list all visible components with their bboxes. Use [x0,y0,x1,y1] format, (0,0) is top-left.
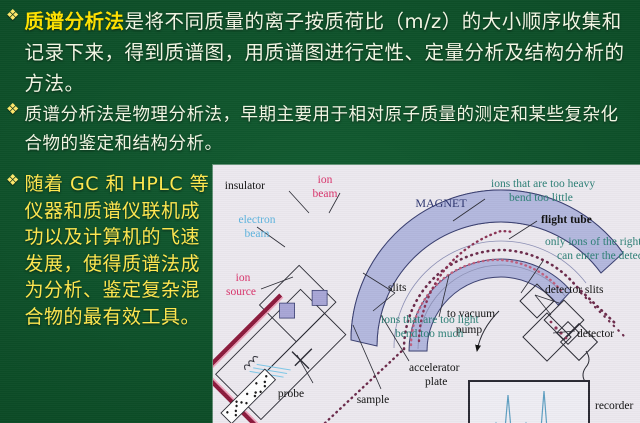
bullet-item-3: ❖ 随着 GC 和 HPLC 等仪器和质谱仪联机成功以及计算机的飞速发展，使得质… [6,171,211,330]
bullet-marker-icon: ❖ [6,9,19,24]
label-accelerator-1: accelerator [409,362,460,374]
label-electron-beam-2: beam [245,228,270,240]
label-flight-tube: flight tube [541,214,592,226]
label-ion-source-2: source [226,286,256,298]
label-detector-slits: detector slits [545,284,604,296]
label-detector: detector [577,328,614,340]
label-right-mass-2: can enter the detector [557,250,640,262]
label-ion-beam-2: beam [313,188,338,200]
recorder-box [469,381,589,423]
label-probe: probe [278,388,304,400]
bullet-1-highlight: 质谱分析法 [24,10,124,33]
bullet-marker-icon: ❖ [6,174,19,189]
bullet-text-3: 随着 GC 和 HPLC 等仪器和质谱仪联机成功以及计算机的飞速发展，使得质谱法… [24,171,211,330]
label-too-light-1: ions that are too light [381,314,480,326]
label-too-heavy-1: ions that are too heavy [491,178,595,190]
mass-spectrometer-figure: insulator slits accelerator plate probe … [213,165,640,423]
bullet-marker-icon: ❖ [6,103,19,118]
figure-labels-magnet: MAGNET [415,196,467,210]
presentation-slide: ❖ 质谱分析法是将不同质量的离子按质荷比（m/z）的大小顺序收集和记录下来，得到… [0,0,640,423]
bullet-text-2: 质谱分析法是物理分析法，早期主要用于相对原子质量的测定和某些复杂化合物的鉴定和结… [24,101,636,159]
bullet-item-2: ❖ 质谱分析法是物理分析法，早期主要用于相对原子质量的测定和某些复杂化合物的鉴定… [6,101,636,159]
label-accelerator-2: plate [425,376,447,388]
label-right-mass-1: only ions of the right mass [545,236,640,248]
label-electron-beam-1: electron [238,214,275,226]
label-ion-beam-1: ion [318,174,333,186]
label-recorder: recorder [595,400,633,412]
label-sample: sample [357,394,390,406]
label-magnet: MAGNET [415,196,467,210]
bullet-text-1: 质谱分析法是将不同质量的离子按质荷比（m/z）的大小顺序收集和记录下来，得到质谱… [24,6,636,99]
label-insulator: insulator [225,180,265,192]
bullet-item-1: ❖ 质谱分析法是将不同质量的离子按质荷比（m/z）的大小顺序收集和记录下来，得到… [6,6,636,99]
label-slits: slits [388,282,407,294]
label-ion-source-1: ion [236,272,251,284]
label-too-light-2: bend too much [395,328,464,340]
label-too-heavy-2: bend too little [509,192,573,204]
